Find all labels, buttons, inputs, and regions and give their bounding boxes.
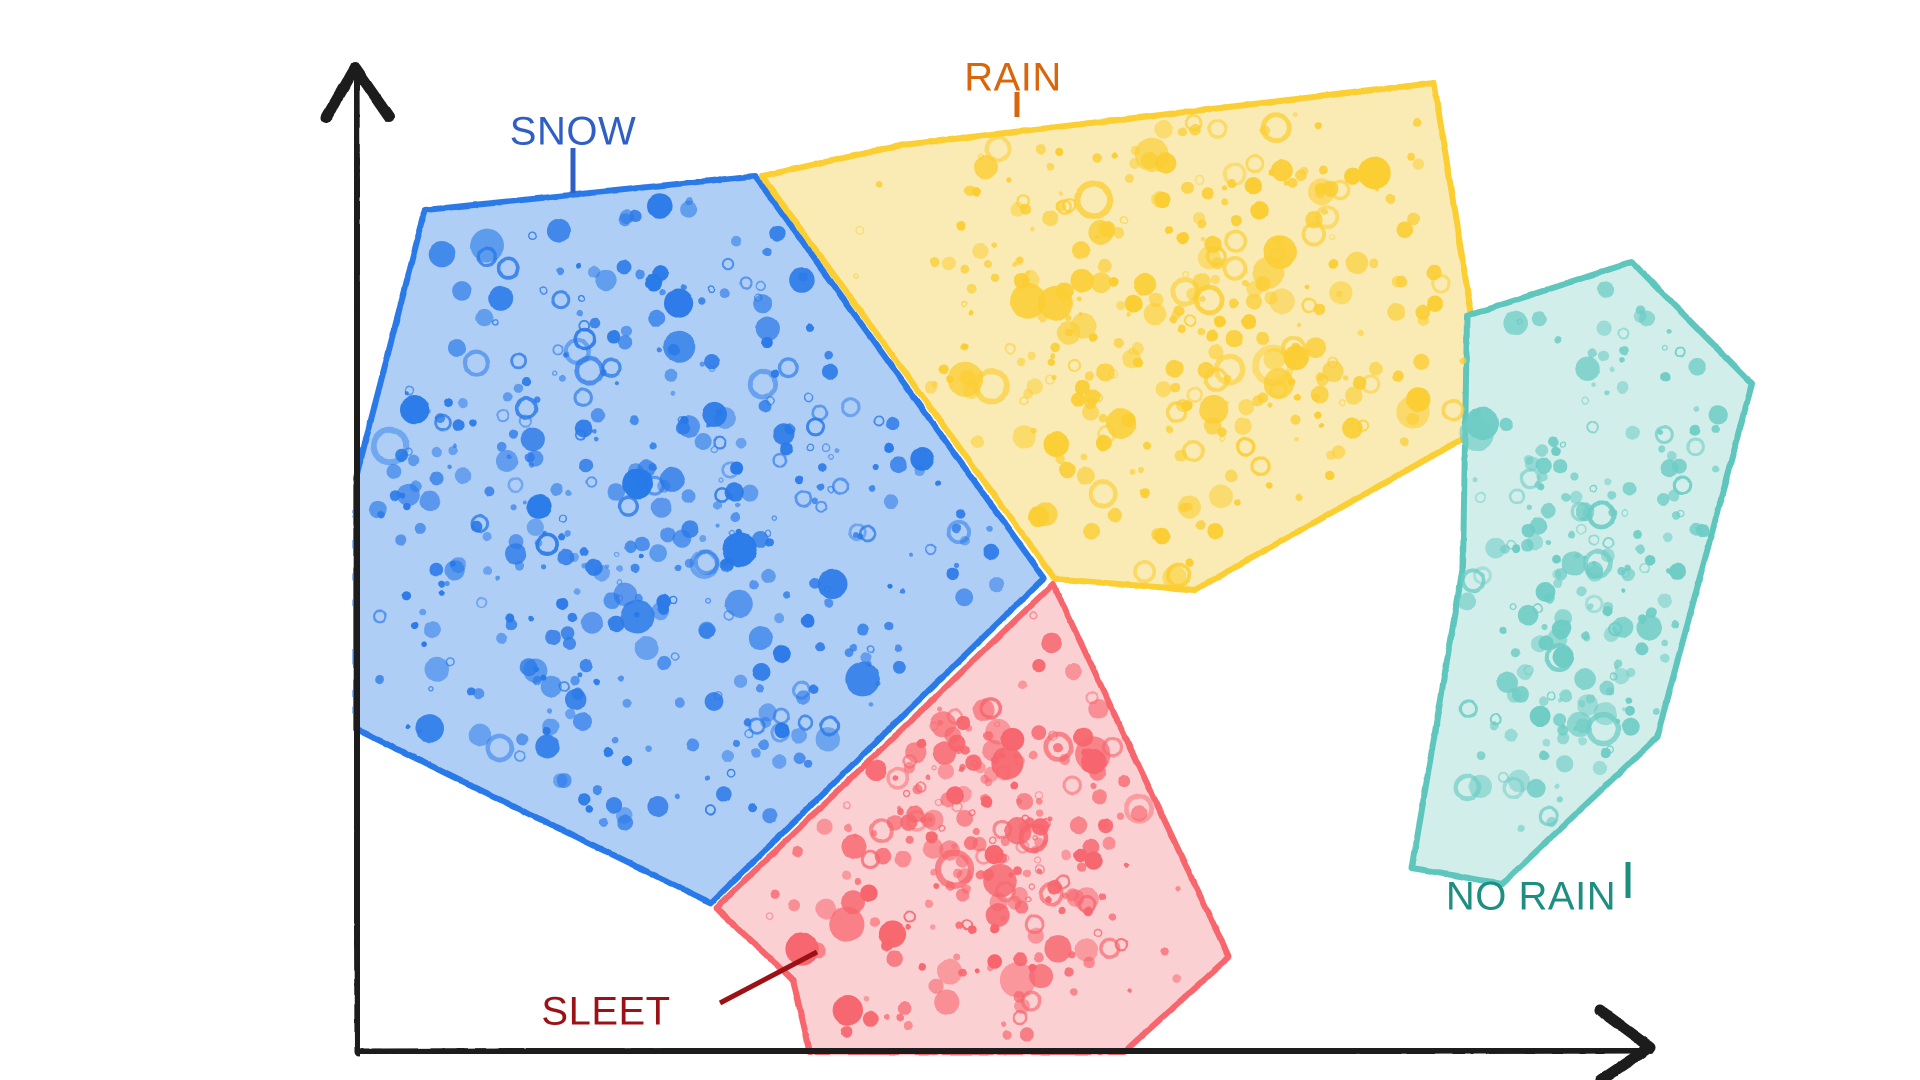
x-axis-line	[362, 1049, 1650, 1053]
cluster-label-sleet: SLEET	[541, 990, 670, 1035]
cluster-label-rain: RAIN	[964, 56, 1062, 101]
scatter-plot-figure: SNOWRAINSLEETNO RAIN	[0, 0, 1920, 1080]
y-axis-line	[355, 68, 359, 1052]
plot-canvas	[0, 0, 1920, 1080]
cluster-label-no-rain: NO RAIN	[1446, 875, 1616, 920]
cluster-label-snow: SNOW	[510, 110, 636, 155]
